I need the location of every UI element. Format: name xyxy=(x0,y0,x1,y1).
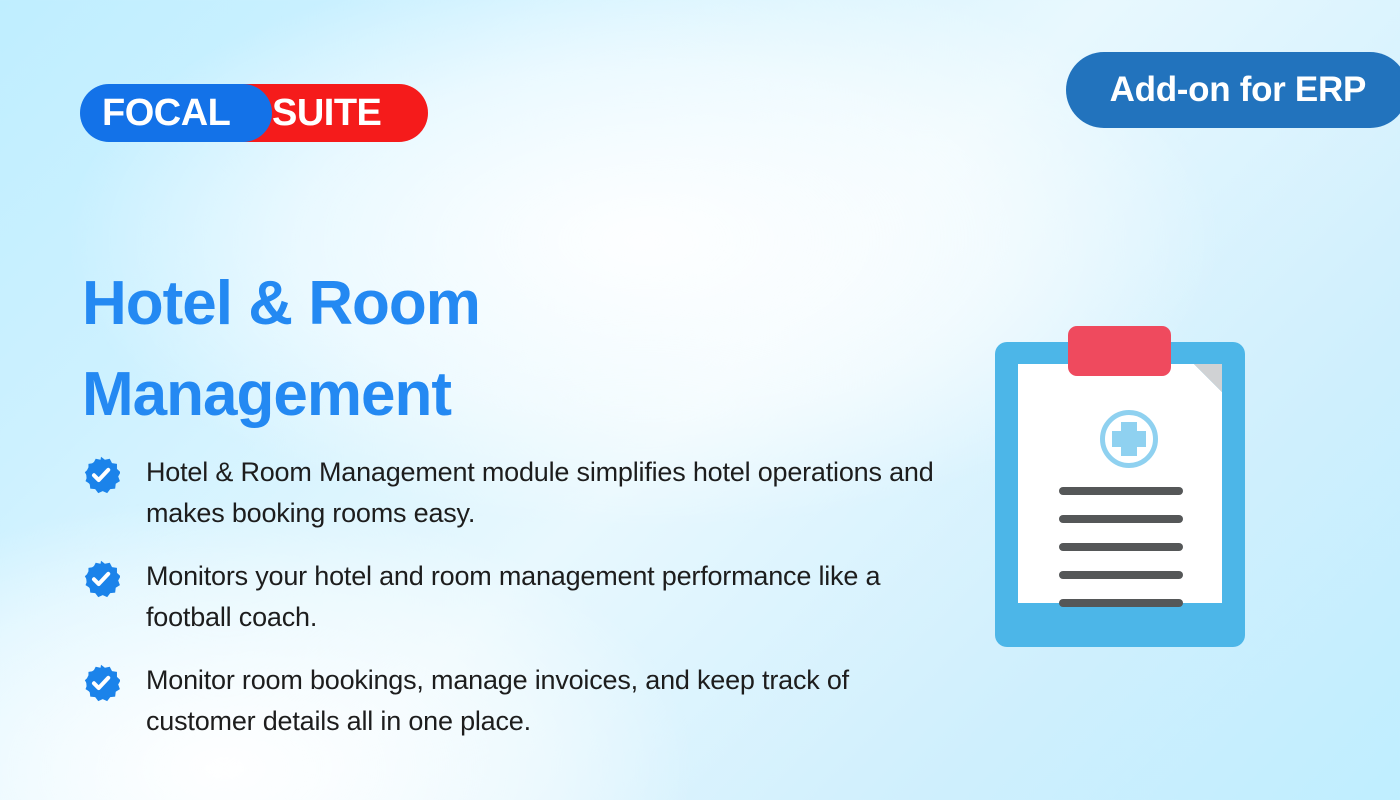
logo-word-secondary: SUITE xyxy=(272,84,381,142)
clipboard-text-line xyxy=(1059,571,1183,579)
check-badge-icon xyxy=(82,664,120,702)
brand-logo[interactable]: FOCAL SUITE xyxy=(80,84,428,142)
clipboard-clip xyxy=(1068,326,1171,376)
list-item: Monitor room bookings, manage invoices, … xyxy=(82,660,962,742)
list-item-label: Monitors your hotel and room management … xyxy=(146,556,962,638)
list-item-label: Monitor room bookings, manage invoices, … xyxy=(146,660,962,742)
medical-clipboard-icon xyxy=(995,342,1245,647)
page-title: Hotel & Room Management xyxy=(82,258,702,440)
clipboard-text-line xyxy=(1059,515,1183,523)
check-badge-icon xyxy=(82,560,120,598)
logo-word-primary: FOCAL xyxy=(102,84,230,142)
clipboard-page xyxy=(1018,364,1222,603)
clipboard-text-line xyxy=(1059,543,1183,551)
clipboard-text-line xyxy=(1059,599,1183,607)
addon-badge: Add-on for ERP xyxy=(1066,52,1400,128)
list-item: Monitors your hotel and room management … xyxy=(82,556,962,638)
list-item-label: Hotel & Room Management module simplifie… xyxy=(146,452,962,534)
clipboard-text-line xyxy=(1059,487,1183,495)
medical-cross-horizontal xyxy=(1112,431,1146,447)
list-item: Hotel & Room Management module simplifie… xyxy=(82,452,962,534)
check-badge-icon xyxy=(82,456,120,494)
feature-list: Hotel & Room Management module simplifie… xyxy=(82,452,962,742)
clipboard-folded-corner xyxy=(1194,364,1222,392)
